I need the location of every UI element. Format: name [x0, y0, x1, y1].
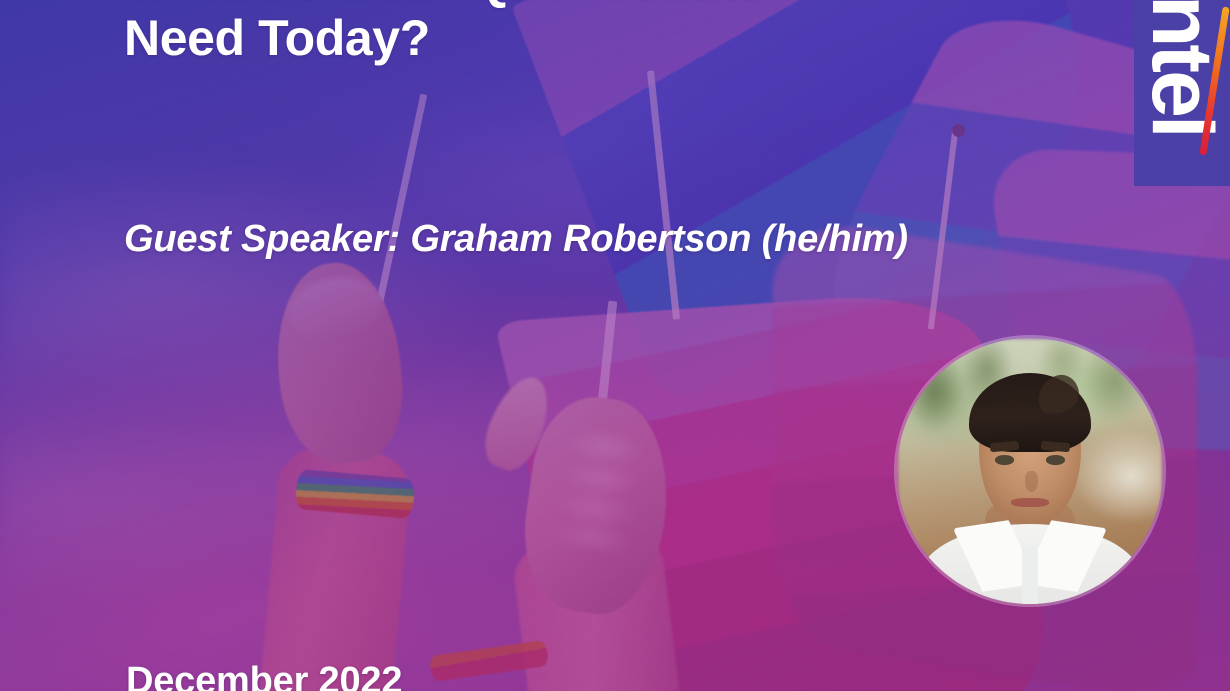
headshot-nose [1025, 471, 1038, 492]
slide-title: What Do LGBTQIA+ Youths Need Today? [124, 0, 1024, 67]
headshot-shirt-placket [1022, 545, 1038, 604]
headshot-eye-left [995, 455, 1014, 465]
slide-title-line-1: What Do LGBTQIA+ Youths [124, 0, 1024, 10]
headshot-mouth [1011, 498, 1048, 507]
speaker-headshot-avatar [897, 338, 1163, 604]
slide-date: December 2022 [126, 660, 402, 691]
guest-speaker-label: Guest Speaker: Graham Robertson (he/him) [124, 218, 908, 261]
slide-title-line-2: Need Today? [124, 10, 1024, 67]
headshot-eye-right [1046, 455, 1065, 465]
intel-logo-badge: Intel [1134, 0, 1230, 186]
intel-logo-rotated: Intel [1134, 0, 1230, 186]
presentation-slide: Intel What Do LGBTQIA+ Youths Need Today… [0, 0, 1230, 691]
